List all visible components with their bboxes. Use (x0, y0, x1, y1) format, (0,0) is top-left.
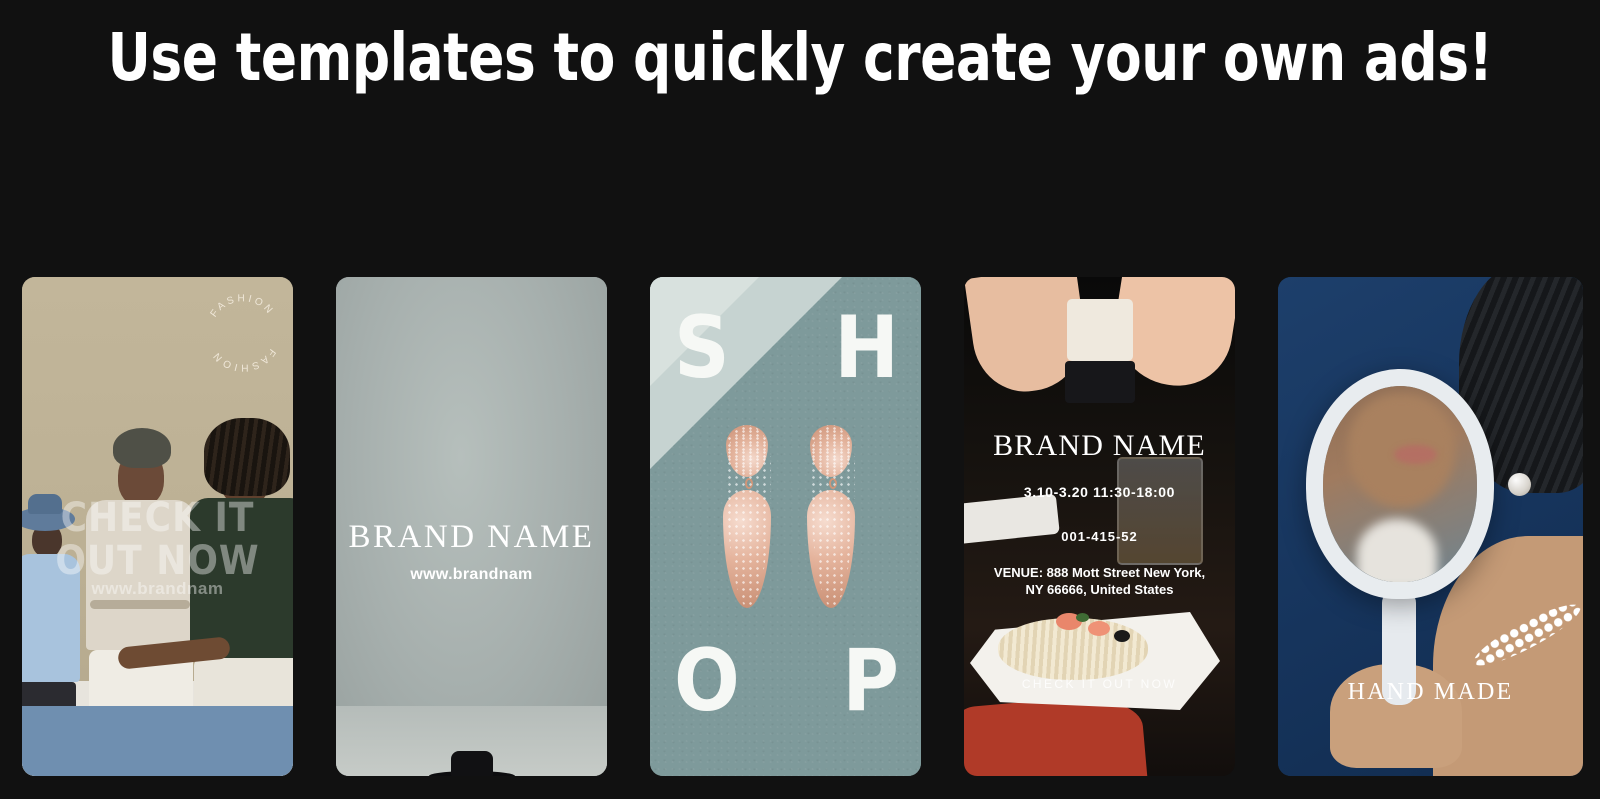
earring-right (810, 425, 855, 608)
hand-mirror (1306, 369, 1494, 599)
card1-headline: CHECK IT OUT NOW (22, 497, 293, 583)
olive-topping (1114, 630, 1130, 642)
card2-url: www.brandnam (336, 566, 607, 584)
herb-topping (1076, 613, 1089, 622)
card4-cta: CHECK IT OUT NOW (964, 677, 1235, 691)
shop-letter-h: H (834, 305, 899, 391)
card2-brand-name: BRAND NAME (336, 519, 607, 556)
card4-venue: VENUE: 888 Mott Street New York, NY 6666… (980, 564, 1219, 599)
shop-letter-p: P (842, 638, 899, 724)
earring-left (726, 425, 771, 608)
shop-letter-s: S (674, 305, 730, 391)
badge-text: FASHION (209, 293, 277, 319)
wide-brim-hat (429, 771, 515, 776)
salmon-topping-2 (1088, 621, 1110, 636)
card4-venue-line2: NY 66666, United States (980, 581, 1219, 599)
template-card-brand-name-model[interactable]: BRAND NAME www.brandnam (336, 277, 607, 776)
svg-text:FASHION: FASHION (209, 293, 277, 319)
template-gallery-page: Use templates to quickly create your own… (0, 0, 1600, 799)
shop-letter-o: O (674, 638, 740, 724)
template-card-hand-made-mirror[interactable]: HAND MADE (1278, 277, 1583, 776)
fashion-circular-badge: FASHION FASHION (195, 285, 291, 381)
template-card-food-event[interactable]: BRAND NAME 3.10-3.20 11:30-18:00 001-415… (964, 277, 1235, 776)
template-card-shop-earrings[interactable]: S H O P (650, 277, 921, 776)
card1-headline-line2: OUT NOW (22, 540, 293, 583)
blue-overlay-band (22, 706, 293, 776)
seasoning-bottle (1067, 299, 1133, 403)
page-headline: Use templates to quickly create your own… (80, 18, 1520, 99)
svg-text:FASHION: FASHION (210, 347, 278, 373)
card4-venue-line1: VENUE: 888 Mott Street New York, (980, 564, 1219, 582)
badge-text-repeat: FASHION (210, 347, 278, 373)
drinking-glass (1117, 457, 1203, 565)
template-card-strip: FASHION FASHION CHECK IT OUT NOW www.bra… (22, 277, 1582, 776)
template-card-fashion-trio[interactable]: FASHION FASHION CHECK IT OUT NOW www.bra… (22, 277, 293, 776)
mirror-reflection (1323, 386, 1477, 582)
card4-date-range: 3.10-3.20 11:30-18:00 (964, 484, 1235, 500)
card4-brand-name: BRAND NAME (964, 429, 1235, 463)
card4-phone: 001-415-52 (964, 529, 1235, 544)
beanie-hat (113, 428, 171, 468)
pearl-earring (1508, 473, 1531, 496)
card5-caption: HAND MADE (1278, 679, 1583, 706)
card1-url: www.brandnam (22, 579, 293, 599)
card1-headline-line1: CHECK IT (22, 497, 293, 540)
locs-hair (204, 418, 290, 496)
